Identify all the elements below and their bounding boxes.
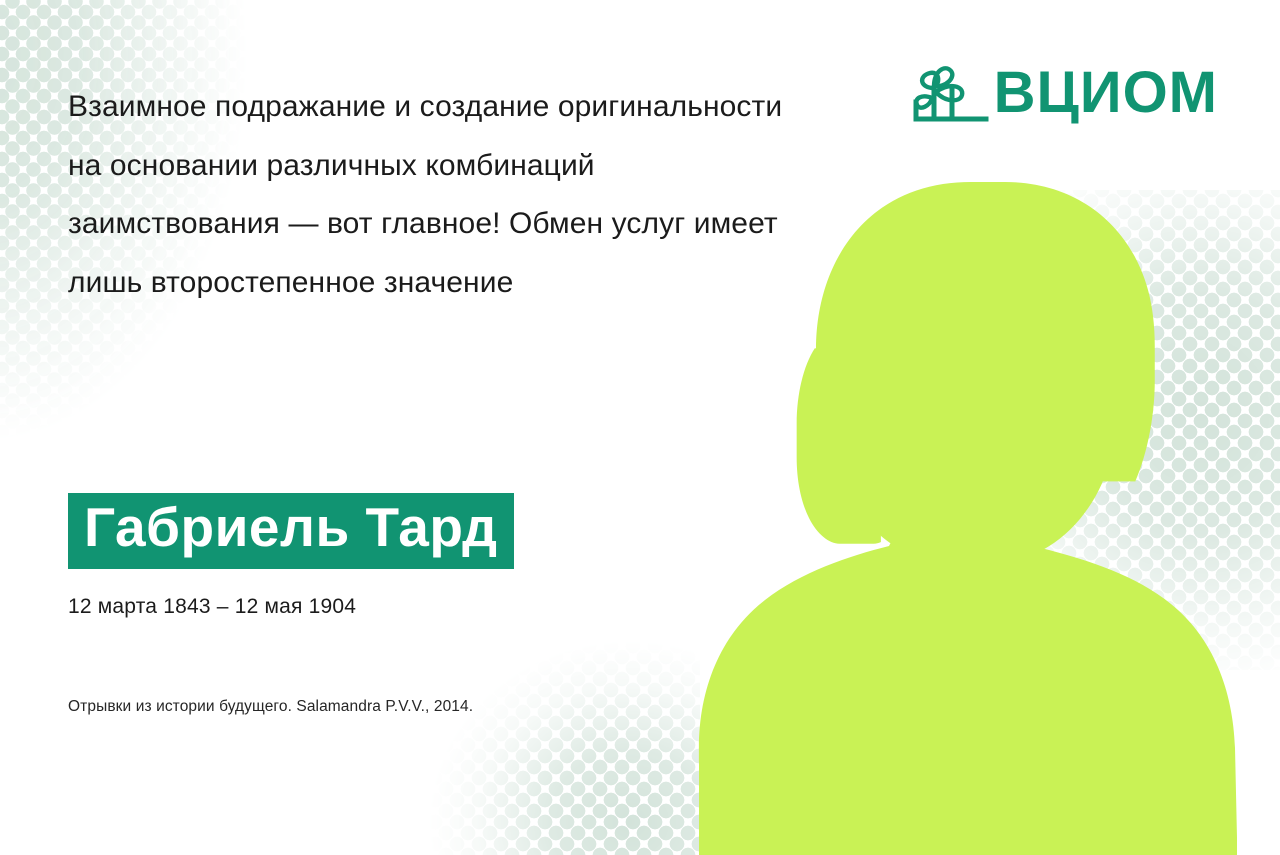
person-life-dates: 12 марта 1843 – 12 мая 1904 [68, 595, 356, 619]
vciom-logo[interactable]: ВЦИОМ [912, 62, 1218, 124]
logo-wordmark: ВЦИОМ [994, 64, 1218, 122]
person-name-banner: Габриель Тард [68, 493, 514, 569]
quote-card: ВЦИОМ Взаимное подражание и создание ори… [0, 0, 1280, 855]
halftone-pattern-bottom [380, 635, 700, 855]
sprout-icon [912, 62, 990, 124]
source-citation: Отрывки из истории будущего. Salamandra … [68, 698, 473, 716]
person-name: Габриель Тард [84, 499, 498, 557]
halftone-pattern-right [970, 190, 1280, 670]
glasses-icon [858, 363, 1120, 427]
quote-text: Взаимное подражание и создание оригиналь… [68, 78, 798, 312]
